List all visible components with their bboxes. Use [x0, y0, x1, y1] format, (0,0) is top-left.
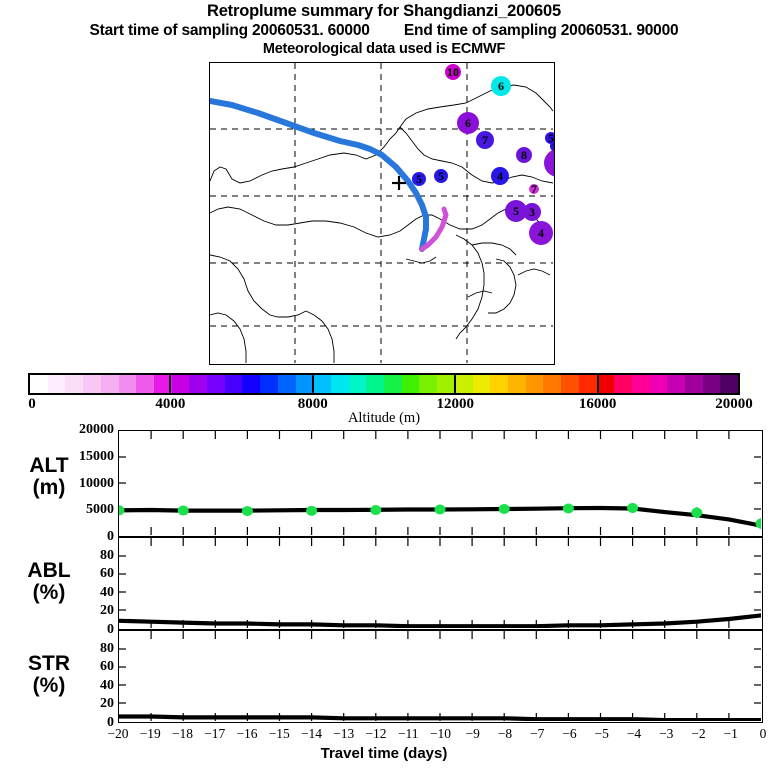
- colorbar-bin: [349, 375, 367, 393]
- colorbar-separator: [597, 373, 599, 395]
- colorbar-bin: [65, 375, 83, 393]
- x-tick-label: −9: [466, 726, 480, 742]
- cluster-altitude-marker: [499, 504, 510, 514]
- retroplume-map: 10667598654554753482342111032: [209, 62, 555, 365]
- colorbar-bin: [313, 375, 331, 393]
- cluster-label: 4: [497, 170, 503, 182]
- cluster-label: 7: [482, 134, 488, 146]
- cluster-label: 5: [438, 170, 444, 182]
- colorbar-bin: [136, 375, 154, 393]
- end-time-text: End time of sampling 20060531. 90000: [404, 22, 679, 39]
- cluster-label: 10: [447, 66, 459, 78]
- x-tick-label: −11: [398, 726, 419, 742]
- str-axis-name: STR (%): [4, 653, 94, 697]
- colorbar-bin: [119, 375, 137, 393]
- map-graticule: [210, 63, 553, 363]
- x-tick-label: −8: [498, 726, 512, 742]
- cluster-altitude-marker: [370, 505, 381, 515]
- colorbar-bin: [526, 375, 544, 393]
- x-tick-label: −18: [172, 726, 193, 742]
- abl-axis-name: ABL (%): [4, 560, 94, 604]
- cluster-altitude-marker: [242, 506, 253, 516]
- y-tick-label: 20000: [79, 422, 114, 438]
- timeseries-panels: [118, 430, 763, 723]
- y-tick-label: 60: [100, 566, 114, 582]
- colorbar-bin: [384, 375, 402, 393]
- cluster-label: 7: [531, 183, 537, 195]
- y-tick-label: 80: [100, 641, 114, 657]
- colorbar-bin: [650, 375, 668, 393]
- colorbar-bin: [172, 375, 190, 393]
- x-tick-label: −15: [269, 726, 290, 742]
- colorbar-bin: [260, 375, 278, 393]
- x-axis-label: Travel time (days): [0, 745, 768, 762]
- map-graphics: [210, 63, 553, 363]
- colorbar-bin: [597, 375, 615, 393]
- colorbar-bin: [83, 375, 101, 393]
- x-tick-label: −19: [140, 726, 161, 742]
- x-tick-label: −16: [236, 726, 257, 742]
- x-tick-label: −7: [530, 726, 544, 742]
- colorbar-bin: [561, 375, 579, 393]
- colorbar-bin: [225, 375, 243, 393]
- x-tick-label: −3: [659, 726, 673, 742]
- y-tick-label: 0: [107, 529, 114, 545]
- x-tick-label: −1: [724, 726, 738, 742]
- sampling-times: Start time of sampling 20060531. 60000 E…: [0, 21, 768, 40]
- colorbar-gradient: [28, 373, 740, 395]
- page-title: Retroplume summary for Shangdianzi_20060…: [0, 0, 768, 21]
- colorbar-bin: [579, 375, 597, 393]
- colorbar-bin: [331, 375, 349, 393]
- cluster-altitude-marker: [756, 519, 762, 529]
- colorbar-bin: [543, 375, 561, 393]
- colorbar-bin: [402, 375, 420, 393]
- colorbar-bin: [473, 375, 491, 393]
- cluster-label: 8: [521, 149, 527, 161]
- x-tick-label: −14: [301, 726, 322, 742]
- cluster-altitude-marker: [435, 505, 446, 515]
- start-time-text: Start time of sampling 20060531. 60000: [90, 22, 370, 39]
- x-tick-label: −17: [204, 726, 225, 742]
- colorbar-bin: [30, 375, 48, 393]
- x-tick-label: −2: [691, 726, 705, 742]
- panel-abl: [118, 537, 763, 630]
- colorbar-separator: [169, 373, 171, 395]
- cluster-altitude-marker: [306, 506, 317, 516]
- y-tick-label: 60: [100, 659, 114, 675]
- cluster-altitude-marker: [691, 508, 702, 518]
- cluster-label: 4: [538, 227, 544, 239]
- cluster-altitude-marker: [119, 505, 125, 515]
- x-tick-label: −12: [365, 726, 386, 742]
- y-tick-label: 40: [100, 585, 114, 601]
- colorbar-bin: [437, 375, 455, 393]
- x-tick-label: −20: [107, 726, 128, 742]
- colorbar-bin: [278, 375, 296, 393]
- cluster-label: 5: [416, 173, 422, 185]
- cluster-label: 3: [529, 206, 535, 218]
- colorbar-bin: [703, 375, 721, 393]
- panel-str: [118, 630, 763, 723]
- trajectory-line: [210, 101, 426, 249]
- cluster-label: 6: [465, 117, 471, 129]
- colorbar-bin: [685, 375, 703, 393]
- colorbar-bin: [189, 375, 207, 393]
- x-tick-label: −4: [627, 726, 641, 742]
- panel-alt: [118, 430, 763, 537]
- x-tick-label: −6: [562, 726, 576, 742]
- cluster-label: 6: [498, 80, 504, 92]
- colorbar-bin: [48, 375, 66, 393]
- colorbar-separator: [454, 373, 456, 395]
- colorbar-bin: [614, 375, 632, 393]
- colorbar-bin: [667, 375, 685, 393]
- cluster-altitude-marker: [627, 503, 638, 513]
- x-tick-label: −5: [595, 726, 609, 742]
- x-tick-label: 0: [760, 726, 767, 742]
- cluster-altitude-marker: [563, 503, 574, 513]
- y-tick-label: 20: [100, 696, 114, 712]
- colorbar-bin: [242, 375, 260, 393]
- title-block: Retroplume summary for Shangdianzi_20060…: [0, 0, 768, 58]
- cluster-altitude-marker: [178, 506, 189, 516]
- colorbar-bin: [419, 375, 437, 393]
- y-tick-label: 40: [100, 678, 114, 694]
- colorbar-bin: [720, 375, 738, 393]
- colorbar-bin: [490, 375, 508, 393]
- y-tick-label: 0: [107, 622, 114, 638]
- x-tick-label: −10: [430, 726, 451, 742]
- colorbar-bin: [508, 375, 526, 393]
- colorbar-bin: [632, 375, 650, 393]
- y-tick-label: 5000: [86, 502, 114, 518]
- alt-axis-name: ALT (m): [4, 455, 94, 499]
- met-data-text: Meteorological data used is ECMWF: [0, 40, 768, 58]
- colorbar: [28, 373, 740, 395]
- cluster-label: 5: [513, 205, 519, 217]
- x-tick-label: −13: [333, 726, 354, 742]
- colorbar-bin: [455, 375, 473, 393]
- colorbar-title: Altitude (m): [0, 410, 768, 427]
- y-tick-label: 20: [100, 603, 114, 619]
- colorbar-bin: [366, 375, 384, 393]
- y-tick-label: 80: [100, 548, 114, 564]
- colorbar-bin: [296, 375, 314, 393]
- colorbar-bin: [207, 375, 225, 393]
- colorbar-bin: [101, 375, 119, 393]
- colorbar-separator: [312, 373, 314, 395]
